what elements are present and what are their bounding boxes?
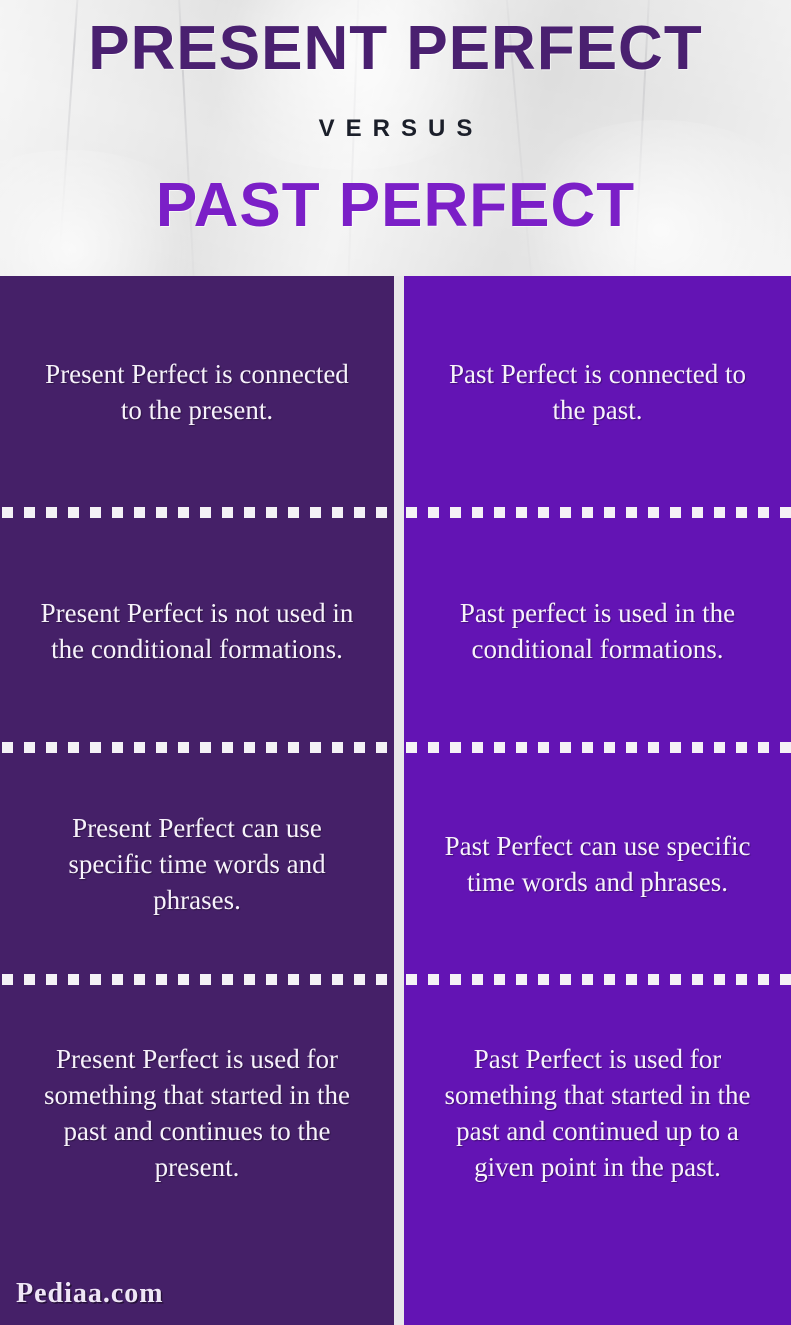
versus-label: VERSUS	[0, 114, 791, 144]
comparison-cell-left: Present Perfect is connected to the pres…	[0, 276, 394, 508]
comparison-cell-right: Past perfect is used in the conditional …	[404, 518, 791, 743]
brand-watermark: Pediaa.com	[16, 1278, 164, 1310]
row-divider	[2, 507, 394, 518]
row-divider	[406, 507, 791, 518]
comparison-cell-left: Present Perfect can use specific time wo…	[0, 753, 394, 975]
comparison-cell-right: Past Perfect is connected to the past.	[404, 276, 791, 508]
row-divider	[406, 742, 791, 753]
comparison-cell-left: Present Perfect is used for something th…	[0, 985, 394, 1240]
page-title-primary: PRESENT PERFECT	[0, 13, 791, 85]
page-title-secondary: PAST PERFECT	[0, 170, 791, 242]
comparison-cell-right: Past Perfect is used for something that …	[404, 985, 791, 1240]
row-divider	[2, 742, 394, 753]
row-divider	[406, 974, 791, 985]
row-divider	[2, 974, 394, 985]
comparison-cell-right: Past Perfect can use specific time words…	[404, 753, 791, 975]
infographic-root: PRESENT PERFECT VERSUS PAST PERFECT Pres…	[0, 0, 791, 1325]
comparison-cell-left: Present Perfect is not used in the condi…	[0, 518, 394, 743]
column-separator	[394, 276, 404, 1325]
